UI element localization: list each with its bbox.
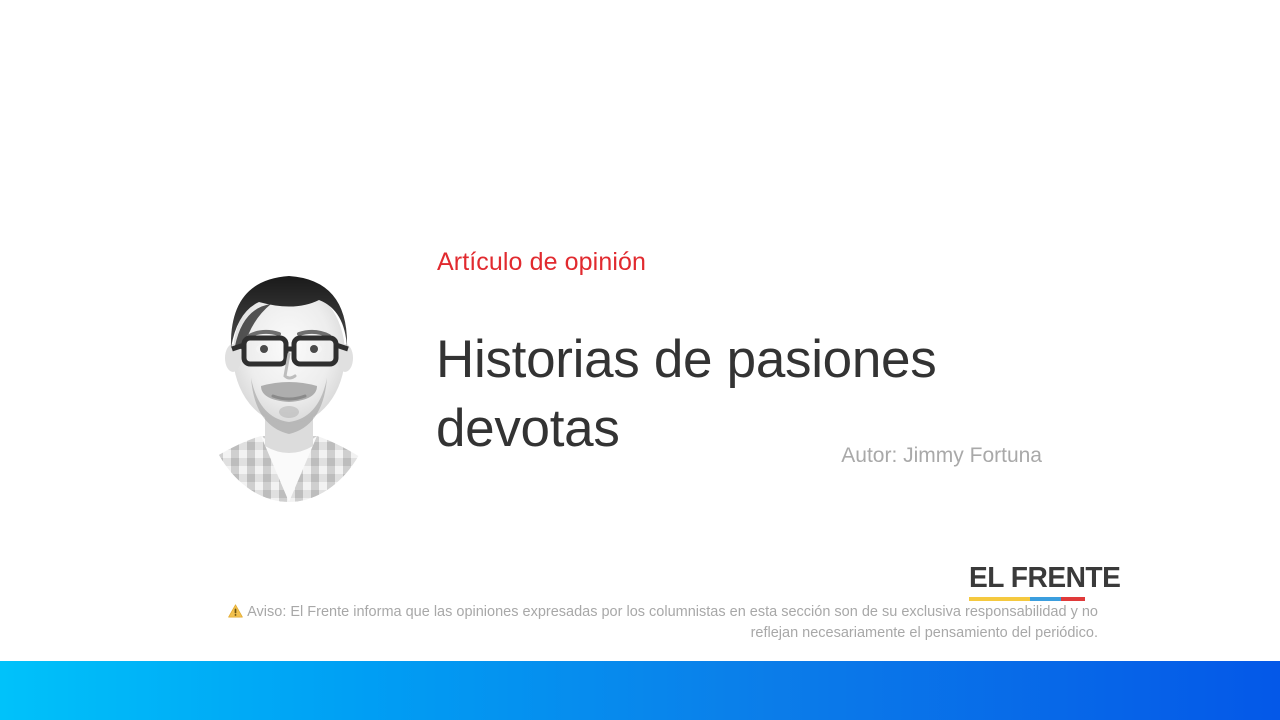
el-frente-logo: EL FRENTE — [969, 564, 1085, 601]
disclaimer-notice: Aviso: El Frente informa que las opinion… — [190, 603, 1098, 642]
logo-bar-yellow — [969, 597, 1030, 601]
article-kicker: Artículo de opinión — [437, 247, 646, 277]
logo-wordmark: EL FRENTE — [969, 564, 1082, 593]
logo-bar-blue — [1030, 597, 1060, 601]
warning-triangle-icon — [228, 604, 243, 624]
disclaimer-text: Aviso: El Frente informa que las opinion… — [247, 604, 1098, 641]
page-title: Historias de pasiones devotas — [436, 325, 1076, 463]
author-portrait — [199, 250, 379, 502]
bottom-gradient-band — [0, 661, 1280, 720]
author-byline: Autor: Jimmy Fortuna — [500, 443, 1042, 469]
logo-tricolor-bars — [969, 597, 1085, 601]
logo-bar-red — [1061, 597, 1085, 601]
article-slide: Artículo de opinión Historias de pasione… — [0, 0, 1280, 720]
portrait-image — [199, 250, 379, 502]
